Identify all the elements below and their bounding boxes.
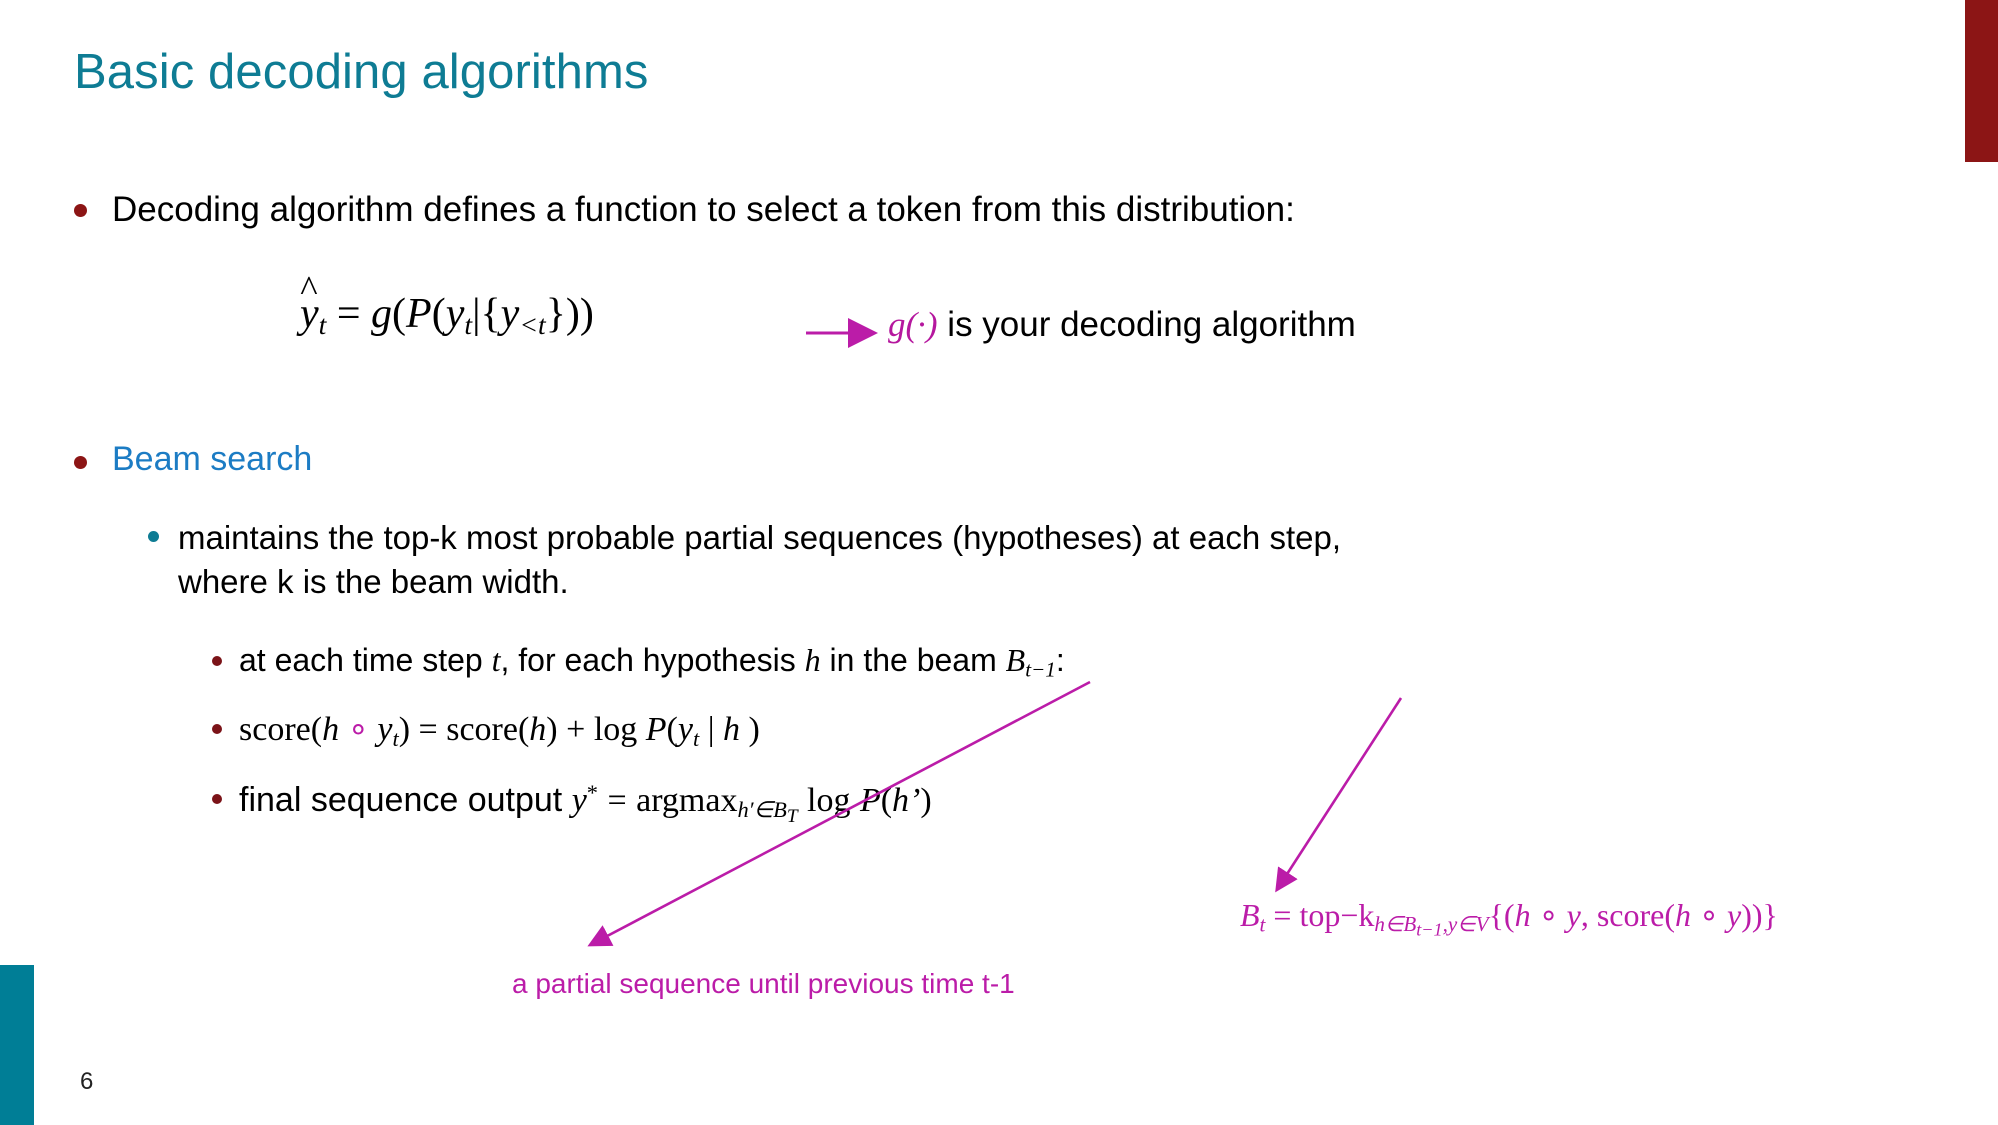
final-argmax-sub-b: T [787,806,798,827]
teal-dot-icon [148,531,159,542]
final-log: log [807,782,850,819]
score-y1: y [377,711,392,748]
score-equals: = [419,711,438,748]
final-sequence-line: final sequence output y* = argmaxh′∈BT l… [239,778,932,829]
beam-eq-brace-close: } [1763,897,1778,933]
bullet-level2-text: maintains the top-k most probable partia… [178,516,1341,604]
eq-equals: = [337,291,361,337]
score-y2-sub: t [693,726,699,751]
beam-eq-B-sub: t [1260,912,1266,936]
dark-red-dot-icon [212,656,222,666]
beam-eq-circ: ∘ [1539,897,1559,933]
equation-decoding-function: ^yt = g(P(yt|{y<t})) [300,290,594,341]
beam-eq-comma: , [1581,897,1597,933]
b31-suffix: : [1056,642,1065,678]
beam-eq-h: h [1515,897,1531,933]
score-h2: h [529,711,546,748]
decor-bar-bottom-left [0,965,34,1125]
eq-g: g [371,291,392,337]
maintains-line-2: where k is the beam width. [178,563,569,600]
beam-eq-brace-open: { [1489,897,1504,933]
compose-circle-icon: ∘ [348,711,369,748]
eq-yhat-sub: t [319,309,327,340]
dark-red-dot-icon [212,794,222,804]
decor-bar-top-right [1965,0,1998,162]
hat-accent-icon: ^ [300,267,317,310]
beam-eq-B: B [1240,897,1260,933]
bullet-level1-decoding: Decoding algorithm defines a function to… [74,188,1874,233]
eq-paren-close: ) [580,291,594,337]
dark-red-dot-icon [212,724,222,734]
page-number: 6 [80,1068,93,1096]
diagonal-arrow-to-beam-equation-icon [1278,698,1401,888]
final-y: y [572,782,587,819]
eq-brace-close: } [546,291,566,337]
eq-y2: y [446,291,465,337]
score-h1: h [322,711,339,748]
slide-canvas: Basic decoding algorithms Decoding algor… [0,0,1998,1125]
bullet-level3-text-1: at each time step t, for each hypothesis… [239,640,1065,684]
score-equation: score(h ∘ yt) = score(h) + log P(yt | h … [239,708,760,753]
eq-paren-close-2: ) [566,291,580,337]
eq-y3-sub: <t [519,309,545,340]
eq-y3: y [501,291,520,337]
final-argmax-sub: h′∈BT [737,797,797,822]
final-prefix: final sequence output [239,781,572,819]
b31-mid: , for each hypothesis [500,642,804,678]
b31-prefix: at each time step [239,642,492,678]
beam-eq-cond-a: h∈B [1374,912,1416,936]
final-argmax: argmax [636,782,737,819]
score-plus: + [566,711,585,748]
final-equals: = [607,782,626,819]
beam-eq-equals: = [1273,897,1291,933]
b31-sub-B: t−1 [1025,657,1056,681]
eq-paren-open: ( [392,291,406,337]
score-word-1: score [239,711,311,748]
beam-eq-paren-open: ( [1504,897,1515,933]
annotation-g-symbol: g(·) [888,305,938,344]
beam-eq-h2: h [1675,897,1691,933]
eq-y2-sub: t [464,309,472,340]
final-star: * [587,780,598,805]
eq-brace-open: { [480,291,500,337]
bullet-level1-text: Decoding algorithm defines a function to… [112,188,1295,233]
score-y2: y [678,711,693,748]
beam-eq-topk: top−k [1299,897,1374,933]
score-paren-open: ( [311,711,322,748]
beam-eq-cond: h∈Bt−1,y∈V [1374,912,1488,936]
annotation-g-text: is your decoding algorithm [938,305,1356,344]
annotation-beam-set-equation: Bt = top−kh∈Bt−1,y∈V{(h ∘ y, score(h ∘ y… [1240,896,1778,941]
score-h3: h [723,711,740,748]
final-P: P [860,782,881,819]
eq-paren-open-2: ( [432,291,446,337]
bullet-level3-final-sequence: final sequence output y* = argmaxh′∈BT l… [212,778,932,829]
beam-eq-cond-a2: t−1 [1416,920,1442,940]
beam-eq-score: score [1597,897,1665,933]
beam-eq-cond-b: ,y∈V [1443,912,1489,936]
score-word-2: score [446,711,518,748]
beam-eq-y: y [1567,897,1581,933]
bullet-level1-beam-search: Beam search [74,440,312,479]
b31-mid2: in the beam [821,642,1006,678]
bullet-level3-score-equation: score(h ∘ yt) = score(h) + log P(yt | h … [212,708,760,753]
score-log: log [594,711,637,748]
annotation-g-is-decoding-algorithm: g(·) is your decoding algorithm [888,305,1356,345]
annotation-partial-sequence-caption: a partial sequence until previous time t… [512,968,1015,1000]
beam-search-label: Beam search [112,440,312,479]
dark-red-dot-icon [74,204,87,217]
score-mid-bar: | [708,711,715,748]
eq-P: P [406,291,432,337]
beam-eq-y2: y [1727,897,1741,933]
b31-var-B: B [1006,642,1026,678]
score-P: P [646,711,667,748]
beam-eq-circ2: ∘ [1699,897,1719,933]
maintains-line-1: maintains the top-k most probable partia… [178,519,1341,556]
page-title: Basic decoding algorithms [74,44,648,100]
b31-var-h: h [805,642,821,678]
dark-red-dot-icon [74,456,87,469]
final-argmax-sub-a: h′∈B [737,797,786,822]
final-hprime: h’ [892,782,920,819]
bullet-level2-maintains: maintains the top-k most probable partia… [148,516,1908,604]
score-paren-close: ) [399,711,410,748]
bullet-level3-each-time-step: at each time step t, for each hypothesis… [212,640,1065,684]
beam-eq-paren-close: ) [1752,897,1763,933]
